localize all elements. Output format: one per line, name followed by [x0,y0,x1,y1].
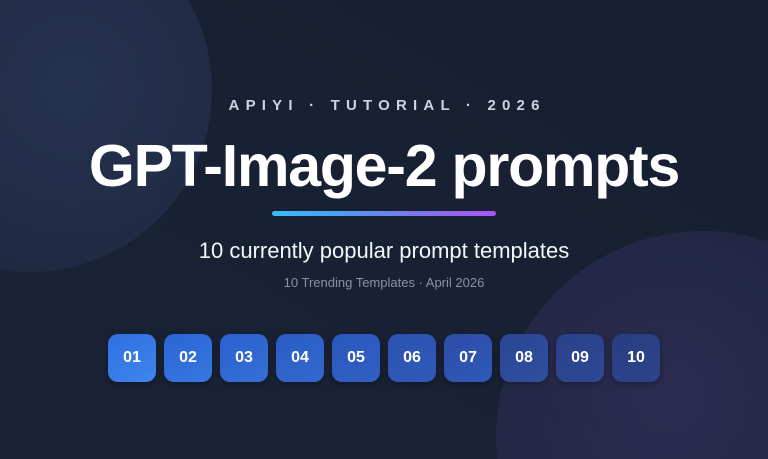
number-chip[interactable]: 09 [556,334,604,382]
gradient-accent-bar [272,211,496,216]
number-chip-row: 01020304050607080910 [108,334,660,382]
number-chip[interactable]: 10 [612,334,660,382]
number-chip[interactable]: 06 [388,334,436,382]
subtitle-text: 10 currently popular prompt templates [199,238,570,264]
number-chip[interactable]: 04 [276,334,324,382]
eyebrow-text: APIYI · TUTORIAL · 2026 [222,97,545,114]
number-chip[interactable]: 01 [108,334,156,382]
presentation-slide: APIYI · TUTORIAL · 2026 GPT-Image-2 prom… [0,0,768,459]
number-chip[interactable]: 08 [500,334,548,382]
number-chip[interactable]: 07 [444,334,492,382]
number-chip[interactable]: 03 [220,334,268,382]
caption-text: 10 Trending Templates · April 2026 [284,275,485,290]
number-chip[interactable]: 02 [164,334,212,382]
slide-content: APIYI · TUTORIAL · 2026 GPT-Image-2 prom… [0,0,768,459]
page-title: GPT-Image-2 prompts [89,137,679,196]
number-chip[interactable]: 05 [332,334,380,382]
